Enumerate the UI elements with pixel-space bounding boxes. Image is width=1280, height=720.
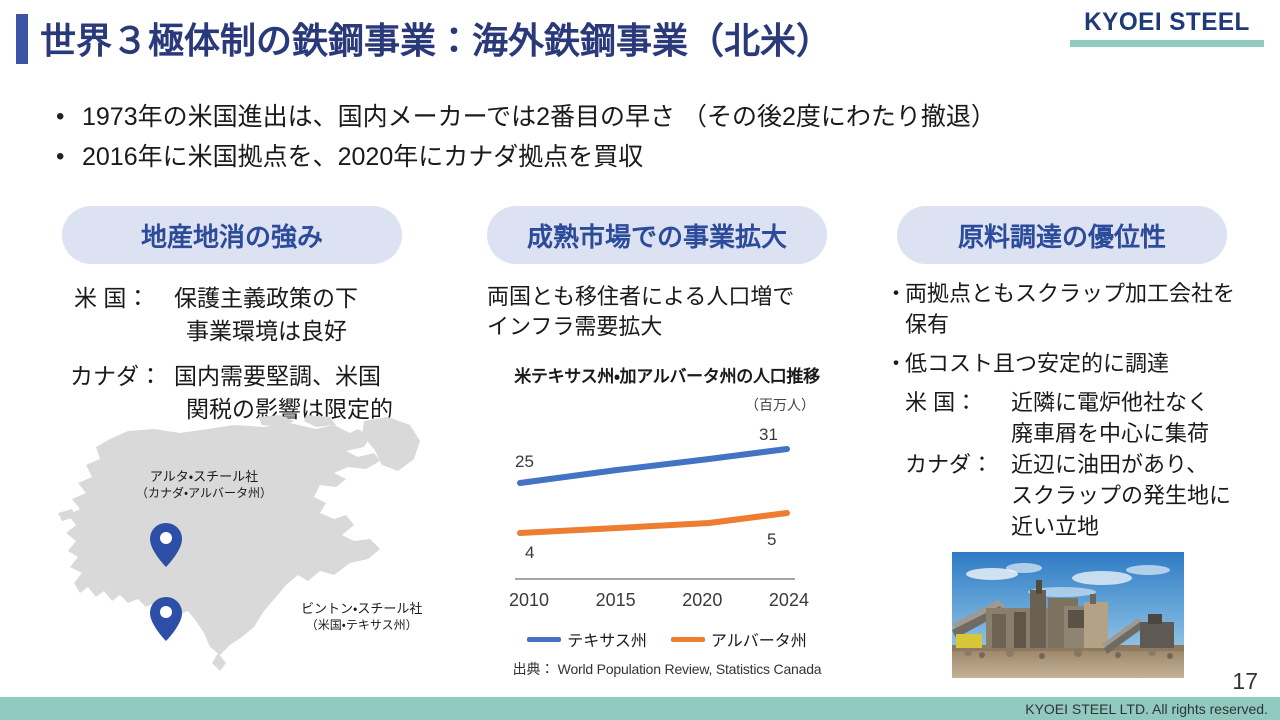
chart-legend: テキサス州 アルバータ州 bbox=[487, 627, 847, 651]
map-label-vinton-sub: （米国・テキサス州） bbox=[301, 617, 422, 634]
map-label-alta-steel: アルタ・スチール社 （カナダ・アルバータ州） bbox=[136, 468, 272, 502]
page-title: 世界３極体制の鉄鋼事業：海外鉄鋼事業（北米） bbox=[40, 12, 832, 64]
column-local-production: 地産地消の強み 米 国： 保護主義政策の下 事業環境は良好 カナダ： 国内需要堅… bbox=[62, 206, 467, 438]
bullet-text: 2016年に米国拠点を、2020年にカナダ拠点を買収 bbox=[82, 140, 643, 174]
bullet-marker-icon: ・ bbox=[885, 278, 905, 340]
list-item: ・ 低コスト且つ安定的に調達 bbox=[885, 348, 1265, 379]
population-line-chart: （百万人） 25 31 4 5 2010 2015 2020 2024 bbox=[487, 395, 837, 625]
country-label-us: 米 国： bbox=[62, 282, 174, 315]
list-item: • 2016年に米国拠点を、2020年にカナダ拠点を買収 bbox=[48, 140, 1238, 174]
column-3-details: 米 国： 近隣に電炉他社なく 廃車屑を中心に集荷 カナダ： 近辺に油田があり、 … bbox=[885, 387, 1265, 542]
detail-line: 米 国： 近隣に電炉他社なく bbox=[905, 387, 1265, 418]
country-line: カナダ： 国内需要堅調、米国 bbox=[62, 360, 467, 393]
detail-text-canada-2: スクラップの発生地に bbox=[905, 480, 1265, 511]
bullet-text: 低コスト且つ安定的に調達 bbox=[905, 348, 1265, 379]
column-1-body: 米 国： 保護主義政策の下 事業環境は良好 カナダ： 国内需要堅調、米国 関税の… bbox=[62, 282, 467, 426]
column-2-intro-line-1: 両国とも移住者による人口増で bbox=[487, 282, 847, 312]
chart-plot-area bbox=[487, 411, 837, 591]
country-text-us-2: 事業環境は良好 bbox=[62, 315, 467, 348]
country-line: 米 国： 保護主義政策の下 bbox=[62, 282, 467, 315]
footer-bar: KYOEI STEEL LTD. All rights reserved. bbox=[0, 697, 1280, 720]
c3-item-0-line1: 両拠点ともスクラップ加工会社を bbox=[905, 278, 1265, 309]
photo-graphic bbox=[952, 552, 1184, 678]
column-2-body: 両国とも移住者による人口増で インフラ需要拡大 bbox=[487, 282, 847, 342]
chart-xtick: 2015 bbox=[596, 590, 636, 611]
map-label-vinton-name: ビントン・スチール社 bbox=[301, 600, 422, 617]
country-block-us: 米 国： 保護主義政策の下 事業環境は良好 bbox=[62, 282, 467, 348]
country-text-canada-1: 国内需要堅調、米国 bbox=[174, 360, 381, 393]
brand-logo: KYOEI STEEL bbox=[1070, 8, 1264, 47]
bullet-text: 両拠点ともスクラップ加工会社を 保有 bbox=[905, 278, 1265, 340]
c3-item-0-line2: 保有 bbox=[905, 309, 1265, 340]
chart-source-note: 出典： World Population Review, Statistics … bbox=[487, 659, 847, 679]
intro-bullet-list: • 1973年の米国進出は、国内メーカーでは2番目の早さ （その後2度にわたり撤… bbox=[48, 100, 1238, 180]
column-raw-material: 原料調達の優位性 ・ 両拠点ともスクラップ加工会社を 保有 ・ 低コスト且つ安定… bbox=[885, 206, 1265, 542]
chart-xtick: 2024 bbox=[769, 590, 809, 611]
column-market-expansion: 成熟市場での事業拡大 両国とも移住者による人口増で インフラ需要拡大 米テキサス… bbox=[487, 206, 847, 679]
bullet-marker-icon: • bbox=[48, 140, 82, 174]
legend-item-alberta: アルバータ州 bbox=[671, 627, 807, 651]
detail-label-us: 米 国： bbox=[905, 387, 1011, 418]
map-label-vinton-steel: ビントン・スチール社 （米国・テキサス州） bbox=[301, 600, 422, 634]
scrap-yard-photo bbox=[952, 552, 1184, 678]
column-3-heading: 原料調達の優位性 bbox=[897, 206, 1227, 264]
legend-swatch-texas-icon bbox=[527, 637, 561, 642]
column-1-heading: 地産地消の強み bbox=[62, 206, 402, 264]
list-item: • 1973年の米国進出は、国内メーカーでは2番目の早さ （その後2度にわたり撤… bbox=[48, 100, 1238, 134]
logo-wordmark: KYOEI STEEL bbox=[1073, 8, 1261, 37]
legend-item-texas: テキサス州 bbox=[527, 627, 647, 651]
chart-series-alberta bbox=[520, 513, 787, 533]
map-pin-vinton-steel bbox=[150, 597, 182, 641]
detail-line: カナダ： 近辺に油田があり、 bbox=[905, 449, 1265, 480]
logo-underline-bar bbox=[1070, 40, 1264, 47]
north-america-map: アルタ・スチール社 （カナダ・アルバータ州） ビントン・スチール社 （米国・テキ… bbox=[58, 415, 458, 675]
legend-label-texas: テキサス州 bbox=[567, 627, 647, 651]
detail-block-us: 米 国： 近隣に電炉他社なく 廃車屑を中心に集荷 bbox=[905, 387, 1265, 449]
chart-series-texas bbox=[520, 449, 787, 483]
title-accent-bar bbox=[16, 14, 28, 64]
chart-datalabel-texas-end: 31 bbox=[759, 425, 778, 445]
country-text-us-1: 保護主義政策の下 bbox=[174, 282, 358, 315]
chart-datalabel-alberta-start: 4 bbox=[525, 543, 534, 563]
column-3-body: ・ 両拠点ともスクラップ加工会社を 保有 ・ 低コスト且つ安定的に調達 米 国：… bbox=[885, 278, 1265, 542]
legend-swatch-alberta-icon bbox=[671, 637, 705, 642]
chart-datalabel-alberta-end: 5 bbox=[767, 530, 776, 550]
chart-x-tick-labels: 2010 2015 2020 2024 bbox=[509, 590, 809, 611]
bullet-marker-icon: ・ bbox=[885, 348, 905, 379]
chart-title: 米テキサス州・加アルバータ州の人口推移 bbox=[487, 362, 847, 387]
column-2-intro-line-2: インフラ需要拡大 bbox=[487, 312, 847, 342]
map-graphic bbox=[58, 415, 458, 675]
detail-text-canada-3: 近い立地 bbox=[905, 511, 1265, 542]
bullet-marker-icon: • bbox=[48, 100, 82, 134]
chart-datalabel-texas-start: 25 bbox=[515, 452, 534, 472]
detail-text-us-1: 近隣に電炉他社なく bbox=[1011, 387, 1209, 418]
chart-xtick: 2010 bbox=[509, 590, 549, 611]
map-label-alta-sub: （カナダ・アルバータ州） bbox=[136, 485, 272, 502]
map-label-alta-name: アルタ・スチール社 bbox=[136, 468, 272, 485]
footer-copyright: KYOEI STEEL LTD. All rights reserved. bbox=[1025, 701, 1268, 717]
slide-root: 世界３極体制の鉄鋼事業：海外鉄鋼事業（北米） KYOEI STEEL • 197… bbox=[0, 0, 1280, 720]
detail-block-canada: カナダ： 近辺に油田があり、 スクラップの発生地に 近い立地 bbox=[905, 449, 1265, 542]
detail-text-canada-1: 近辺に油田があり、 bbox=[1011, 449, 1208, 480]
chart-xtick: 2020 bbox=[682, 590, 722, 611]
column-2-heading: 成熟市場での事業拡大 bbox=[487, 206, 827, 264]
detail-label-canada: カナダ： bbox=[905, 449, 1011, 480]
bullet-text: 1973年の米国進出は、国内メーカーでは2番目の早さ （その後2度にわたり撤退） bbox=[82, 100, 996, 134]
country-label-canada: カナダ： bbox=[62, 360, 174, 393]
list-item: ・ 両拠点ともスクラップ加工会社を 保有 bbox=[885, 278, 1265, 340]
detail-text-us-2: 廃車屑を中心に集荷 bbox=[905, 418, 1265, 449]
legend-label-alberta: アルバータ州 bbox=[711, 627, 807, 651]
c3-item-1-line1: 低コスト且つ安定的に調達 bbox=[905, 348, 1265, 379]
page-number: 17 bbox=[1232, 668, 1258, 695]
